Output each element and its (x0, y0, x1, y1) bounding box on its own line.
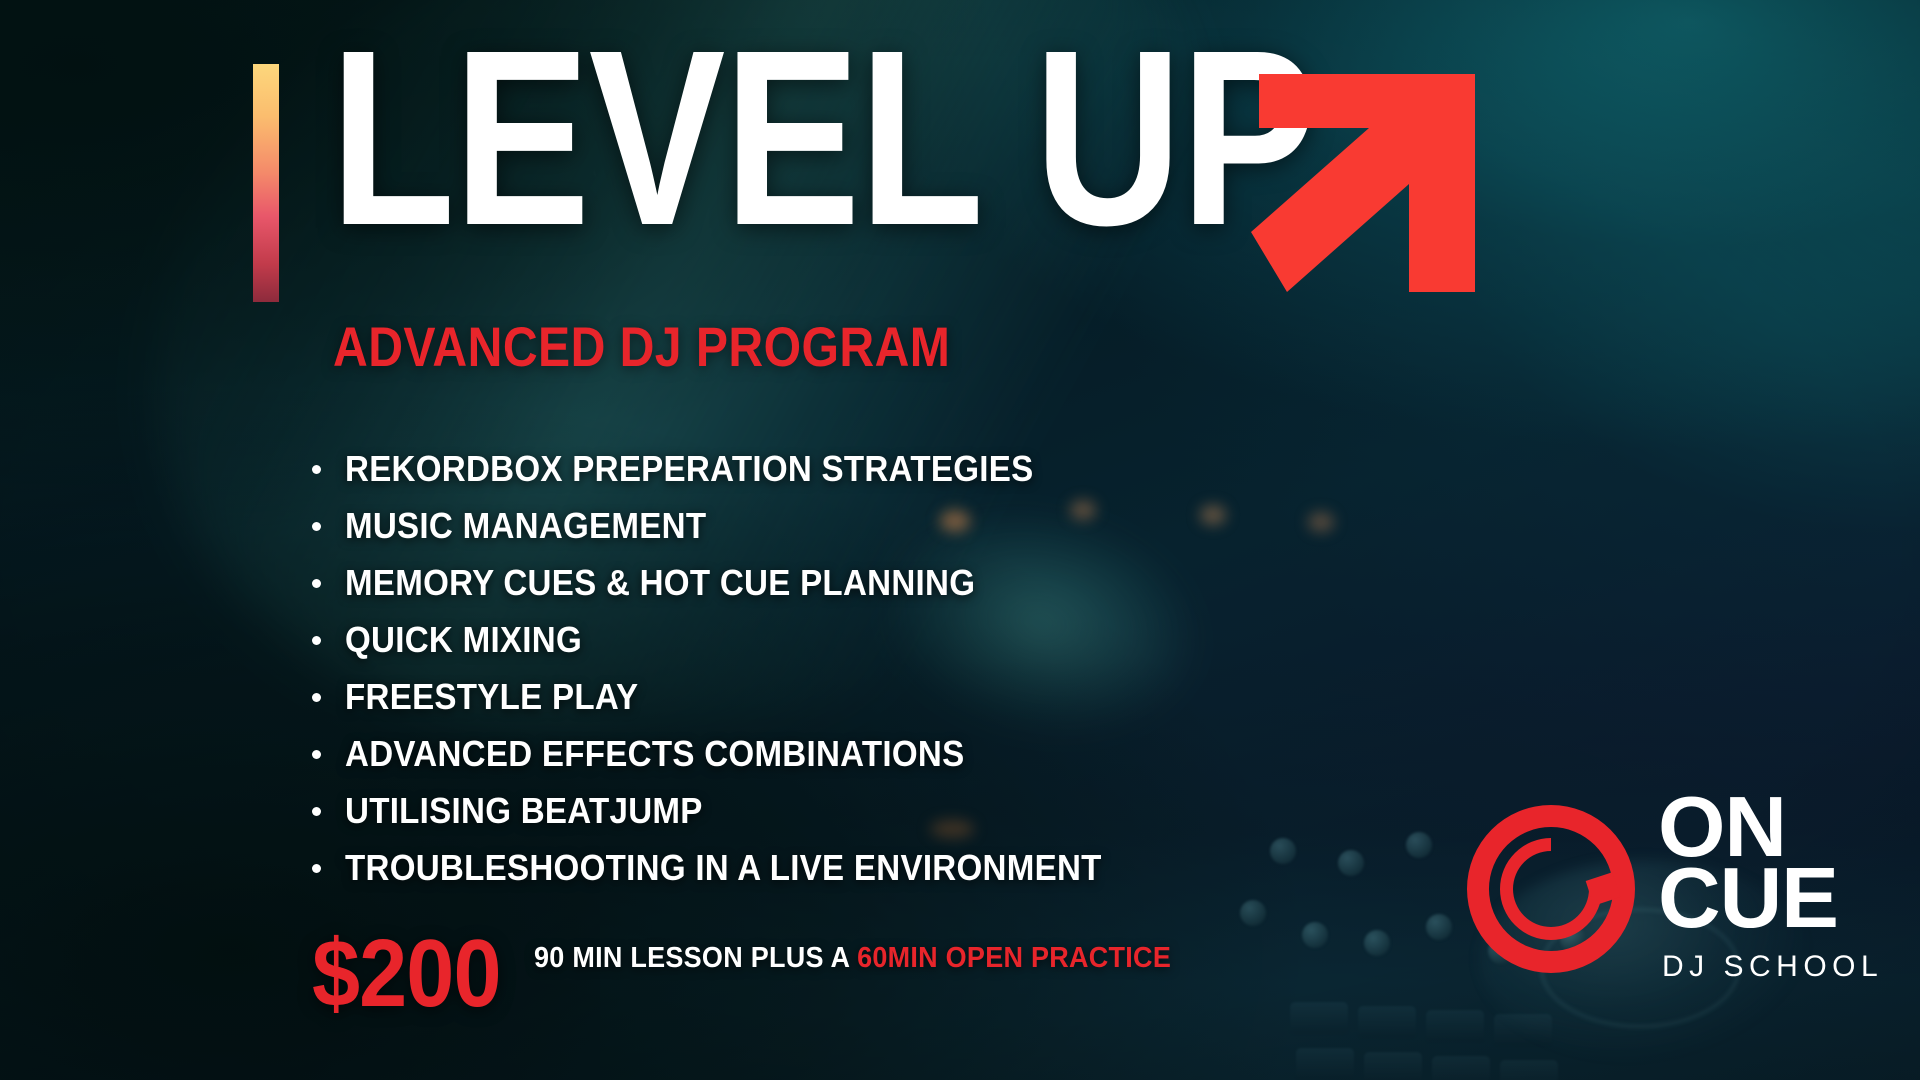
feature-label: MUSIC MANAGEMENT (345, 505, 706, 547)
list-item: ADVANCED EFFECTS COMBINATIONS (300, 725, 1167, 782)
promo-poster: LEVEL UP ADVANCED DJ PROGRAM REKORDBOX P… (0, 0, 1920, 1080)
pricing-block: $200 90 MIN LESSON PLUS A 60MIN OPEN PRA… (312, 928, 1219, 1019)
page-subtitle: ADVANCED DJ PROGRAM (333, 314, 950, 379)
list-item: MUSIC MANAGEMENT (300, 497, 1167, 554)
feature-label: TROUBLESHOOTING IN A LIVE ENVIRONMENT (345, 847, 1102, 889)
feature-list: REKORDBOX PREPERATION STRATEGIES MUSIC M… (300, 440, 1167, 896)
oncue-circle-logo-icon (1462, 800, 1640, 978)
list-item: MEMORY CUES & HOT CUE PLANNING (300, 554, 1167, 611)
feature-label: UTILISING BEATJUMP (345, 790, 703, 832)
list-item: FREESTYLE PLAY (300, 668, 1167, 725)
price-note-highlight: 60MIN OPEN PRACTICE (857, 942, 1171, 974)
page-title: LEVEL UP (330, 30, 1316, 245)
gradient-accent-bar (253, 64, 279, 302)
price-note-plain: 90 MIN LESSON PLUS A (534, 942, 857, 974)
feature-label: REKORDBOX PREPERATION STRATEGIES (345, 448, 1033, 490)
list-item: QUICK MIXING (300, 611, 1167, 668)
feature-label: QUICK MIXING (345, 619, 582, 661)
feature-label: MEMORY CUES & HOT CUE PLANNING (345, 562, 975, 604)
logo-line-two: CUE (1658, 863, 1838, 934)
feature-label: ADVANCED EFFECTS COMBINATIONS (345, 733, 965, 775)
arrow-up-right-icon (1251, 66, 1483, 292)
price-amount: $200 (312, 928, 501, 1019)
logo-wordmark: ON CUE (1658, 792, 1834, 935)
list-item: REKORDBOX PREPERATION STRATEGIES (300, 440, 1167, 497)
list-item: TROUBLESHOOTING IN A LIVE ENVIRONMENT (300, 839, 1167, 896)
list-item: UTILISING BEATJUMP (300, 782, 1167, 839)
logo-tagline: DJ SCHOOL (1662, 950, 1883, 984)
brand-logo: ON CUE DJ SCHOOL (1462, 800, 1882, 990)
feature-label: FREESTYLE PLAY (345, 676, 638, 718)
price-note: 90 MIN LESSON PLUS A 60MIN OPEN PRACTICE (534, 942, 1171, 975)
